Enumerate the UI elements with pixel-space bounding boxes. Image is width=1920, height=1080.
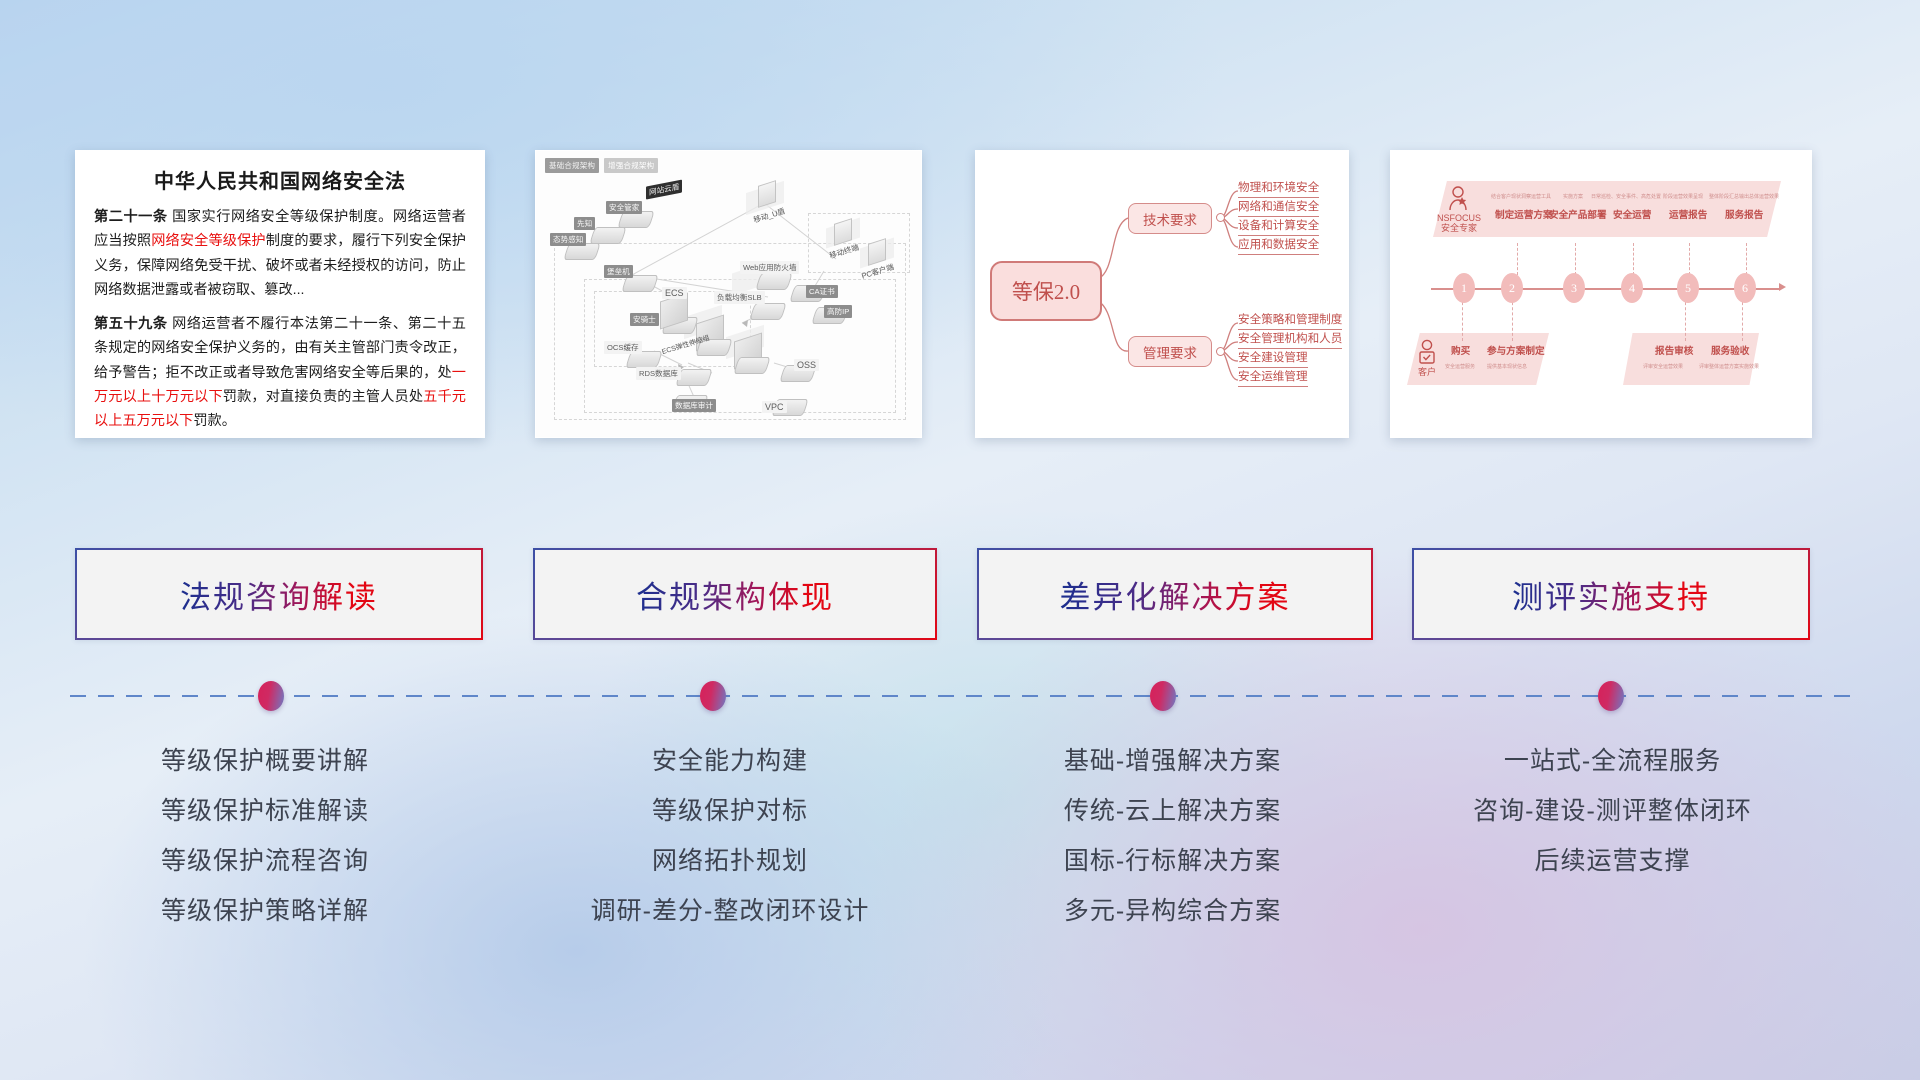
list-item: 一站式-全流程服务 — [1410, 736, 1815, 786]
screenshot-card-process[interactable]: NSFOCUS 安全专家 客户 1 — [1390, 150, 1812, 438]
step-title-deploy: 安全产品部署 — [1549, 207, 1607, 221]
icon-waf — [755, 273, 793, 290]
article-59-label: 第五十九条 — [94, 316, 168, 332]
timeline-node-2[interactable] — [700, 681, 726, 711]
step-title-purchase: 购买 — [1451, 343, 1470, 357]
icon-slb — [749, 303, 787, 320]
icon-rds-database — [675, 369, 713, 386]
list-item: 网络拓扑规划 — [530, 836, 930, 886]
connector-6t — [1746, 243, 1747, 275]
label-oss: OSS — [794, 359, 819, 371]
cloud-architecture-diagram: 基础合规架构 增强合规架构 — [536, 151, 921, 437]
mindmap-leaf-ops-mgmt: 安全运维管理 — [1238, 368, 1308, 387]
section-title-box-3[interactable]: 差异化解决方案 — [977, 548, 1373, 640]
connector-5t — [1689, 243, 1690, 275]
connector-6b — [1742, 297, 1743, 341]
step-dot-1[interactable]: 1 — [1453, 273, 1475, 303]
timeline-node-4[interactable] — [1598, 681, 1624, 711]
section-title-inner-1: 法规咨询解读 — [77, 550, 481, 638]
step-dot-3[interactable]: 3 — [1563, 273, 1585, 303]
connector-1 — [1462, 297, 1463, 341]
mindmap-leaf-policy-system: 安全策略和管理制度 — [1238, 311, 1342, 330]
article-59-text-2: 罚款，对直接负责的主管人员处 — [223, 389, 423, 405]
icon-xianzhi — [589, 227, 627, 244]
step-sub-ops: 日常巡检、安全事件、高危处置 — [1591, 193, 1661, 200]
connector-2b — [1512, 297, 1513, 341]
list-item: 后续运营支撑 — [1410, 836, 1815, 886]
list-item: 安全能力构建 — [530, 736, 930, 786]
mindmap-leaf-app-data: 应用和数据安全 — [1238, 236, 1319, 255]
screenshot-card-architecture[interactable]: 基础合规架构 增强合规架构 — [535, 150, 922, 438]
label-situational-awareness: 态势感知 — [550, 233, 586, 246]
list-item: 国标-行标解决方案 — [975, 836, 1370, 886]
section-items-column-4: 一站式-全流程服务 咨询-建设-测评整体闭环 后续运营支撑 — [1410, 736, 1815, 886]
section-title-box-4[interactable]: 测评实施支持 — [1412, 548, 1810, 640]
connector-5b — [1685, 297, 1686, 341]
connector-4 — [1633, 243, 1634, 275]
section-title-1: 法规咨询解读 — [180, 572, 378, 617]
mindmap-leaf-physical-env: 物理和环境安全 — [1238, 179, 1319, 198]
mindmap-leaf-org-personnel: 安全管理机构和人员 — [1238, 330, 1342, 349]
mindmap-branch-technical: 技术要求 — [1128, 203, 1212, 234]
step-dot-4[interactable]: 4 — [1621, 273, 1643, 303]
step-title-review: 报告审核 — [1655, 343, 1693, 357]
timeline-node-3[interactable] — [1150, 681, 1176, 711]
timeline-node-1[interactable] — [258, 681, 284, 711]
label-security-butler: 安全管家 — [606, 201, 642, 214]
step-title-participate: 参与方案制定 — [1487, 343, 1545, 357]
law-document: 中华人民共和国网络安全法 第二十一条 国家实行网络安全等级保护制度。网络运营者应… — [76, 151, 484, 437]
mindmap-leaf-device-compute: 设备和计算安全 — [1238, 217, 1319, 236]
label-ocs-cache: OCS缓存 — [604, 341, 642, 354]
label-anti-ddos-ip: 高防IP — [824, 305, 852, 318]
collapse-dot-icon-management[interactable] — [1216, 347, 1225, 356]
label-waf: Web应用防火墙 — [740, 261, 799, 274]
section-title-inner-2: 合规架构体现 — [535, 550, 935, 638]
section-title-inner-3: 差异化解决方案 — [979, 550, 1371, 638]
step-sub-deploy: 实施方案 — [1563, 193, 1583, 200]
list-item: 基础-增强解决方案 — [975, 736, 1370, 786]
step-sub-review: 评审安全运营效果 — [1643, 363, 1683, 370]
label-db-audit: 数据库审计 — [672, 399, 716, 412]
step-dot-5[interactable]: 5 — [1677, 273, 1699, 303]
step-sub-report: 阶段运营效果呈现 — [1663, 193, 1703, 200]
mindmap-leaf-construction-mgmt: 安全建设管理 — [1238, 349, 1308, 368]
section-title-inner-4: 测评实施支持 — [1414, 550, 1808, 638]
section-items-column-3: 基础-增强解决方案 传统-云上解决方案 国标-行标解决方案 多元-异构综合方案 — [975, 736, 1370, 936]
list-item: 咨询-建设-测评整体闭环 — [1410, 786, 1815, 836]
process-timeline-diagram: NSFOCUS 安全专家 客户 1 — [1391, 151, 1811, 437]
list-item: 等级保护流程咨询 — [70, 836, 460, 886]
list-item: 调研-差分-整改闭环设计 — [530, 886, 930, 936]
timeline-dashed-line — [70, 695, 1850, 697]
step-title-acceptance: 服务验收 — [1711, 343, 1749, 357]
section-items-column-1: 等级保护概要讲解 等级保护标准解读 等级保护流程咨询 等级保护策略详解 — [70, 736, 460, 936]
mindmap-branch-management: 管理要求 — [1128, 336, 1212, 367]
section-items-column-2: 安全能力构建 等级保护对标 网络拓扑规划 调研-差分-整改闭环设计 — [530, 736, 930, 936]
step-sub-purchase: 安全运营服务 — [1445, 363, 1475, 370]
section-title-box-2[interactable]: 合规架构体现 — [533, 548, 937, 640]
list-item: 等级保护对标 — [530, 786, 930, 836]
label-vpc: VPC — [762, 401, 787, 413]
provider-title: NSFOCUS — [1437, 213, 1481, 223]
list-item: 传统-云上解决方案 — [975, 786, 1370, 836]
connector-2t — [1517, 243, 1518, 275]
law-title: 中华人民共和国网络安全法 — [94, 165, 466, 194]
section-title-2: 合规架构体现 — [636, 572, 834, 617]
article-21-highlight: 网络安全等级保护 — [151, 233, 266, 249]
reference-screenshots-row: 中华人民共和国网络安全法 第二十一条 国家实行网络安全等级保护制度。网络运营者应… — [0, 0, 1920, 470]
list-item: 多元-异构综合方案 — [975, 886, 1370, 936]
step-title-report: 运营报告 — [1669, 207, 1707, 221]
label-anqishi: 安骑士 — [630, 313, 659, 326]
step-sub-acceptance: 评审整体运营方案实施效果 — [1699, 363, 1759, 370]
icon-ecs-c-base — [733, 357, 771, 374]
step-title-plan: 制定运营方案 — [1495, 207, 1553, 221]
step-title-ops: 安全运营 — [1613, 207, 1651, 221]
provider-name: NSFOCUS 安全专家 — [1431, 213, 1487, 234]
list-item: 等级保护概要讲解 — [70, 736, 460, 786]
law-article-21: 第二十一条 国家实行网络安全等级保护制度。网络运营者应当按照网络安全等级保护制度… — [94, 205, 466, 303]
screenshot-card-mindmap[interactable]: 等保2.0 技术要求 物理和环境安全 网络和通信安全 设备和计算安全 应用和数据… — [975, 150, 1349, 438]
customer-name: 客户 — [1413, 367, 1441, 377]
section-title-3: 差异化解决方案 — [1060, 572, 1291, 617]
mindmap-root: 等保2.0 — [990, 261, 1102, 321]
screenshot-card-law[interactable]: 中华人民共和国网络安全法 第二十一条 国家实行网络安全等级保护制度。网络运营者应… — [75, 150, 485, 438]
provider-subtitle: 安全专家 — [1441, 223, 1477, 233]
label-xianzhi: 先知 — [574, 217, 595, 230]
article-21-label: 第二十一条 — [94, 209, 168, 225]
law-article-59: 第五十九条 网络运营者不履行本法第二十一条、第二十五条规定的网络安全保护义务的，… — [94, 312, 466, 434]
customer-avatar-icon — [1415, 339, 1439, 367]
label-ecs: ECS — [662, 287, 687, 299]
band-customer-right — [1623, 333, 1759, 385]
process-axis-arrow-icon — [1779, 283, 1786, 291]
label-slb: 负载均衡SLB — [714, 291, 765, 304]
article-59-text-3: 罚款。 — [193, 413, 236, 429]
label-bastion-host: 堡垒机 — [604, 265, 633, 278]
step-title-service: 服务报告 — [1725, 207, 1763, 221]
mindmap-diagram: 等保2.0 技术要求 物理和环境安全 网络和通信安全 设备和计算安全 应用和数据… — [976, 151, 1348, 437]
step-dot-2[interactable]: 2 — [1501, 273, 1523, 303]
label-ca-certificate: CA证书 — [806, 285, 838, 298]
connector-3 — [1575, 243, 1576, 275]
step-sub-participate: 提供基本现状信息 — [1487, 363, 1527, 370]
section-title-box-1[interactable]: 法规咨询解读 — [75, 548, 483, 640]
list-item: 等级保护标准解读 — [70, 786, 460, 836]
step-sub-plan: 结合客户现状洞察运营工具 — [1491, 193, 1551, 200]
step-sub-service: 整体阶段汇总输出总体运营效果 — [1709, 193, 1779, 200]
step-dot-6[interactable]: 6 — [1734, 273, 1756, 303]
security-expert-avatar-icon — [1445, 185, 1471, 215]
label-rds-database: RDS数据库 — [636, 367, 681, 380]
list-item: 等级保护策略详解 — [70, 886, 460, 936]
section-title-4: 测评实施支持 — [1512, 572, 1710, 617]
process-axis — [1431, 288, 1781, 290]
mindmap-leaf-network-comm: 网络和通信安全 — [1238, 198, 1319, 217]
collapse-dot-icon-technical[interactable] — [1216, 213, 1225, 222]
